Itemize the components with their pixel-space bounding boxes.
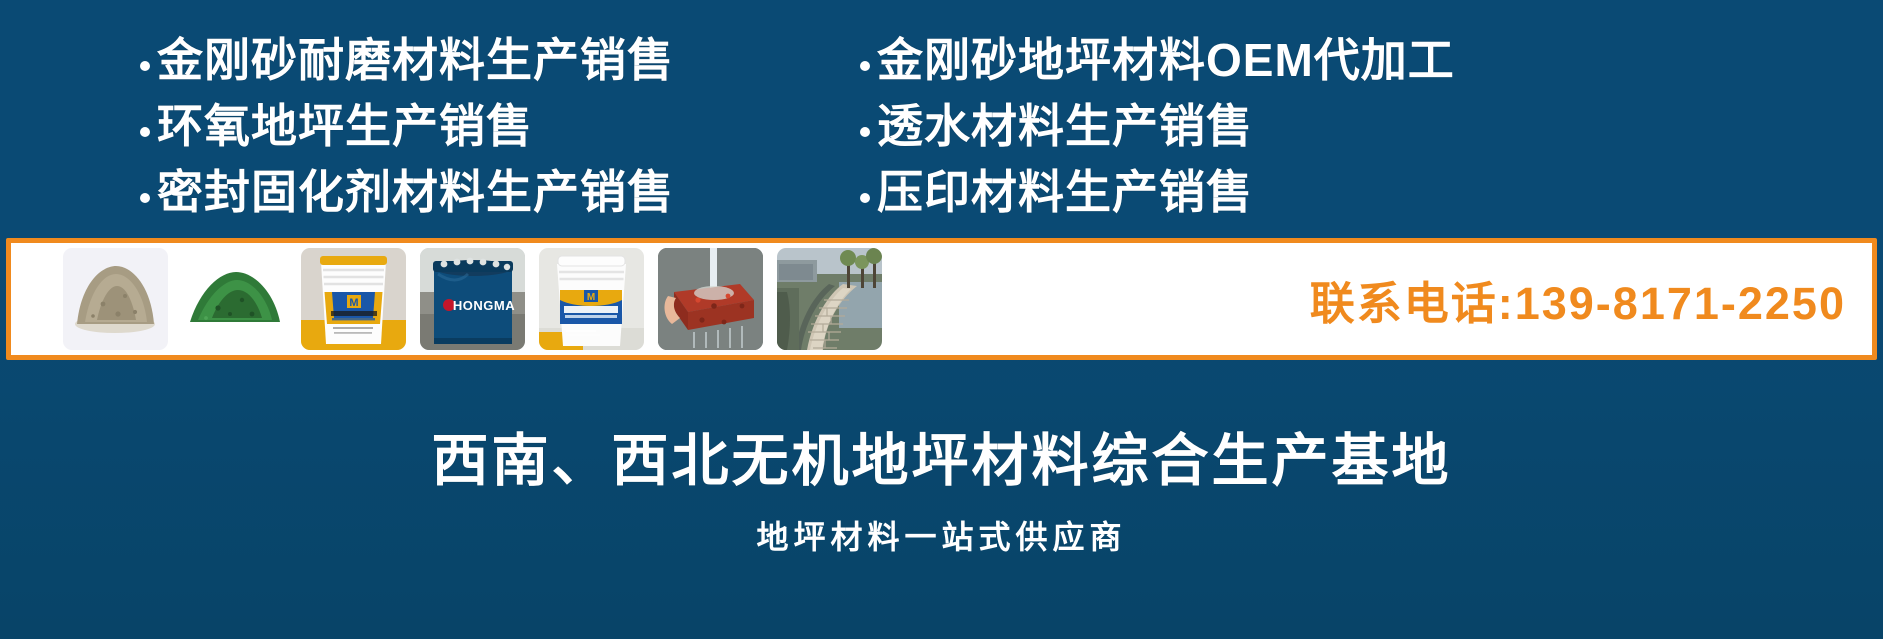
thumbnail-stamped-concrete-path[interactable] (777, 248, 882, 350)
thumbnail-grey-abrasive-powder[interactable] (63, 248, 168, 350)
service-label: 压印材料生产销售 (877, 164, 1253, 220)
svg-text:M: M (349, 297, 358, 309)
service-item-1: 环氧地坪生产销售 (140, 98, 674, 154)
footer-section: 西南、西北无机地坪材料综合生产基地 地坪材料一站式供应商 (0, 360, 1883, 639)
bullet-dot-icon (140, 193, 150, 203)
service-label: 环氧地坪生产销售 (157, 98, 533, 154)
promo-banner: 金刚砂耐磨材料生产销售 环氧地坪生产销售 密封固化剂材料生产销售 金刚砂地坪材料… (0, 0, 1883, 639)
service-item-4: 透水材料生产销售 (860, 98, 1455, 154)
bullet-dot-icon (140, 127, 150, 137)
bucket-epoxy-icon: M (539, 248, 644, 350)
product-thumbnail-list: M (11, 248, 882, 350)
thumbnail-green-abrasive-powder[interactable] (182, 248, 287, 350)
permeable-block-icon (658, 248, 763, 350)
footer-subline: 地坪材料一站式供应商 (756, 512, 1126, 558)
thumbnail-concrete-sealer-bucket[interactable]: M (301, 248, 406, 350)
bullet-dot-icon (860, 61, 870, 71)
contact-phone[interactable]: 联系电话:139-8171-2250 (1310, 267, 1872, 332)
svg-text:M: M (587, 292, 595, 303)
drum-hongma-icon: HONGMA (420, 248, 525, 350)
service-label: 透水材料生产销售 (877, 98, 1253, 154)
services-right-column: 金刚砂地坪材料OEM代加工 透水材料生产销售 压印材料生产销售 (860, 32, 1455, 220)
service-label: 金刚砂耐磨材料生产销售 (157, 32, 674, 88)
service-label: 金刚砂地坪材料OEM代加工 (877, 32, 1455, 88)
footer-headline: 西南、西北无机地坪材料综合生产基地 (432, 429, 1452, 495)
service-item-0: 金刚砂耐磨材料生产销售 (140, 32, 674, 88)
stamped-path-icon (777, 248, 882, 350)
powder-grey-icon (63, 248, 168, 350)
service-item-3: 金刚砂地坪材料OEM代加工 (860, 32, 1455, 88)
service-label: 密封固化剂材料生产销售 (157, 164, 674, 220)
service-item-5: 压印材料生产销售 (860, 164, 1455, 220)
thumbnail-permeable-concrete-block[interactable] (658, 248, 763, 350)
bucket-sealer-icon: M (301, 248, 406, 350)
services-section: 金刚砂耐磨材料生产销售 环氧地坪生产销售 密封固化剂材料生产销售 金刚砂地坪材料… (0, 0, 1883, 238)
svg-text:HONGMA: HONGMA (453, 298, 515, 313)
powder-green-icon (182, 248, 287, 350)
services-left-column: 金刚砂耐磨材料生产销售 环氧地坪生产销售 密封固化剂材料生产销售 (140, 32, 674, 220)
service-item-2: 密封固化剂材料生产销售 (140, 164, 674, 220)
thumbnail-epoxy-floor-coating-bucket[interactable]: M (539, 248, 644, 350)
bullet-dot-icon (860, 127, 870, 137)
thumbnail-hongma-steel-drum[interactable]: HONGMA (420, 248, 525, 350)
product-strip: M (6, 238, 1877, 360)
bullet-dot-icon (860, 193, 870, 203)
bullet-dot-icon (140, 61, 150, 71)
